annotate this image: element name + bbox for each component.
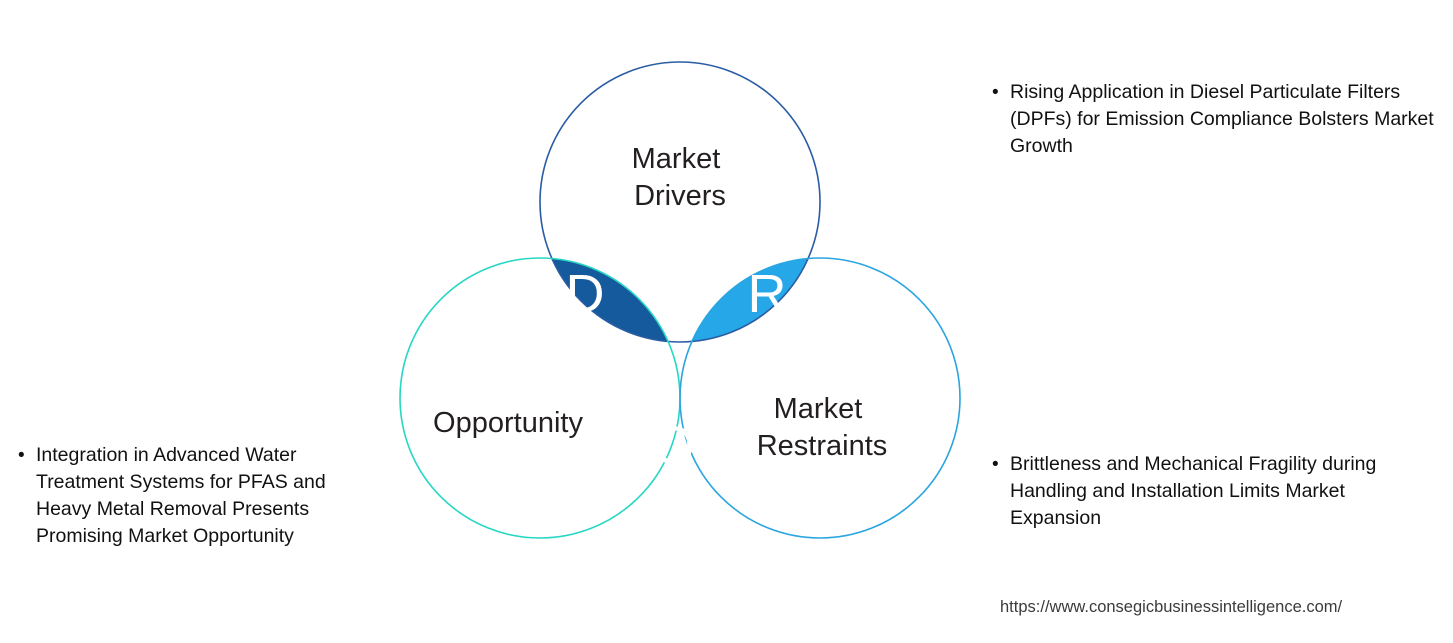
- bullet-icon: •: [18, 442, 36, 469]
- callout-opportunity: • Integration in Advanced Water Treatmen…: [18, 442, 373, 550]
- diagram-canvas: Market Drivers Opportunity Market Restra…: [0, 0, 1453, 643]
- bullet-icon: •: [992, 79, 1010, 106]
- bullet-icon: •: [992, 451, 1010, 478]
- callout-market-restraints: • Brittleness and Mechanical Fragility d…: [992, 451, 1412, 532]
- callout-opportunity-text: Integration in Advanced Water Treatment …: [36, 442, 373, 550]
- callout-market-drivers: • Rising Application in Diesel Particula…: [992, 79, 1437, 160]
- venn-svg: Market Drivers Opportunity Market Restra…: [330, 40, 1030, 600]
- callout-market-drivers-text: Rising Application in Diesel Particulate…: [1010, 79, 1437, 160]
- lens-letter-d: D: [566, 264, 605, 324]
- source-url[interactable]: https://www.consegicbusinessintelligence…: [1000, 598, 1342, 617]
- lens-letter-o: O: [653, 416, 695, 476]
- venn-diagram: Market Drivers Opportunity Market Restra…: [330, 40, 1030, 600]
- label-market-drivers: Market Drivers: [632, 143, 729, 212]
- callout-market-restraints-text: Brittleness and Mechanical Fragility dur…: [1010, 451, 1412, 532]
- label-opportunity: Opportunity: [433, 407, 583, 439]
- lens-drivers: [400, 258, 680, 538]
- lens-letter-r: R: [748, 264, 787, 324]
- label-market-restraints: Market Restraints: [757, 393, 888, 462]
